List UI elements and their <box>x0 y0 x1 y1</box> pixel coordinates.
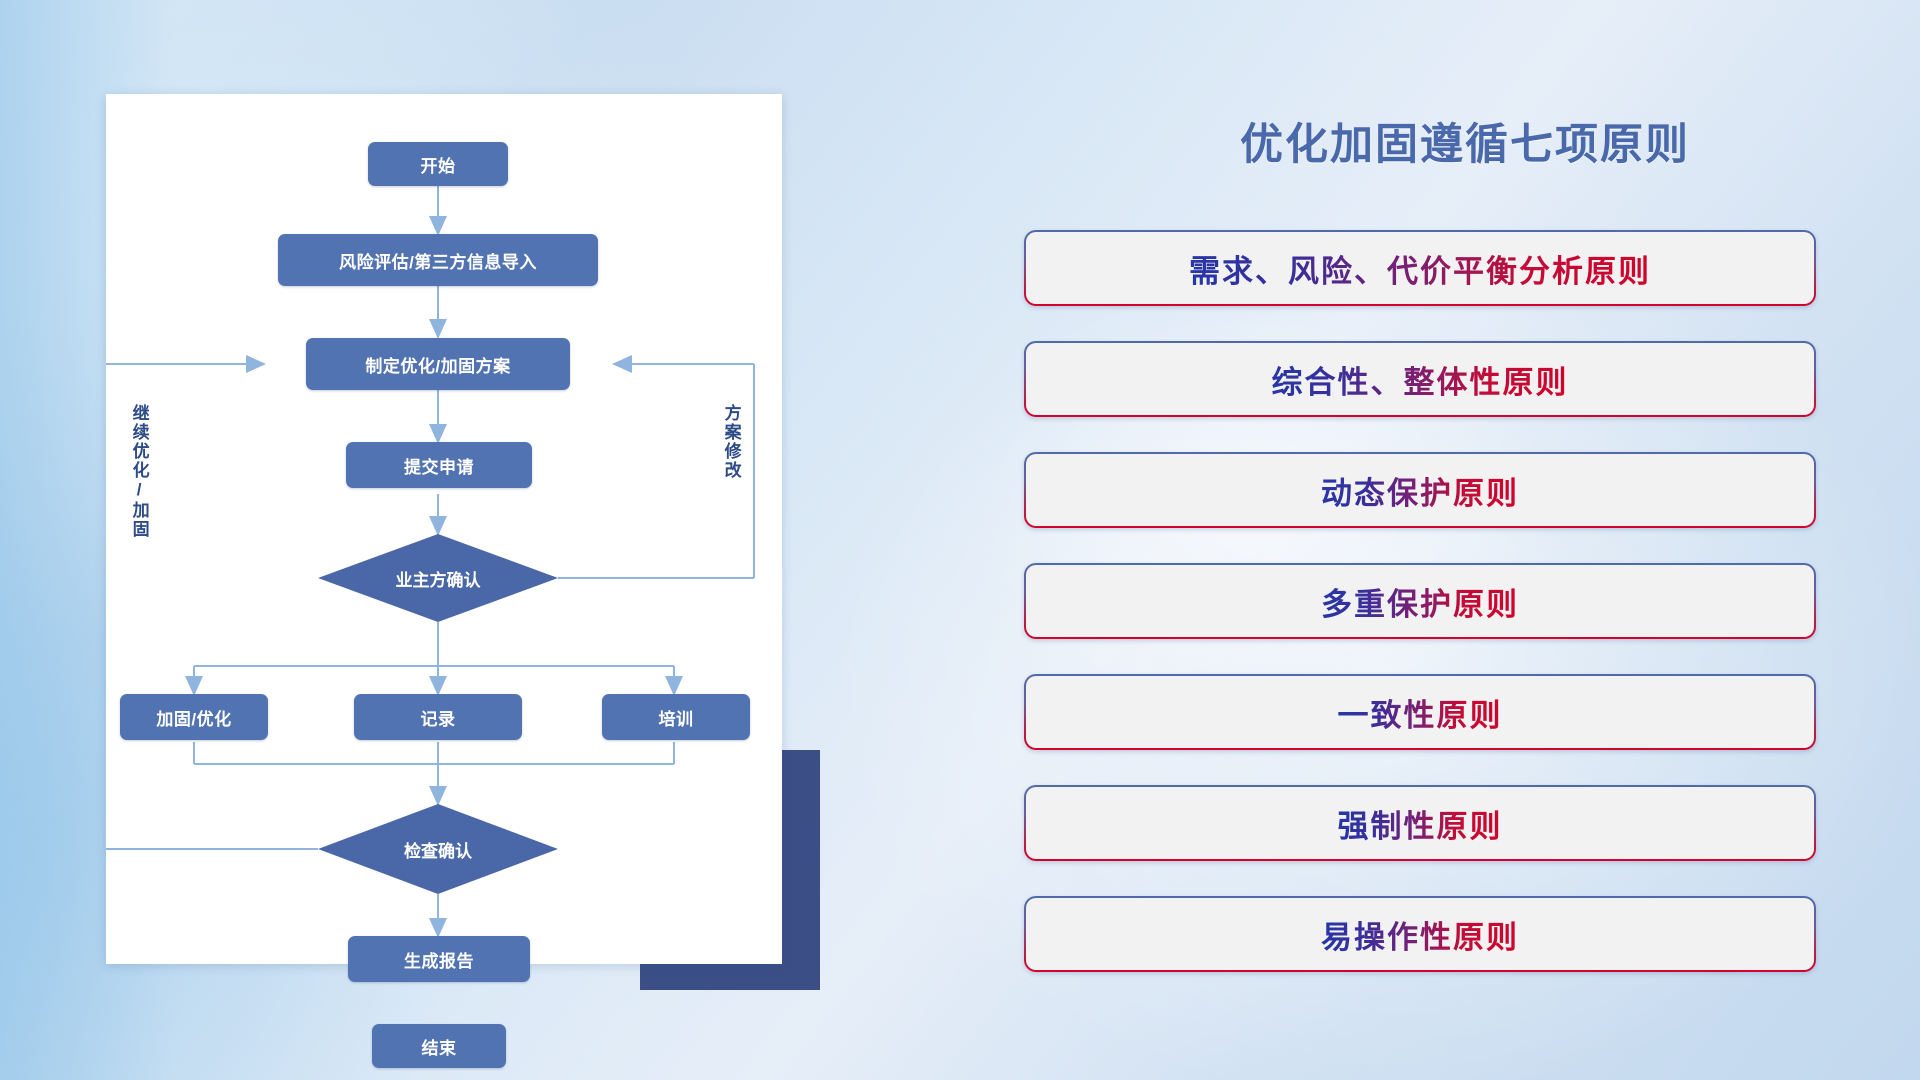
flow-node-label: 制定优化/加固方案 <box>365 352 510 377</box>
principle-card[interactable]: 多重保护原则 <box>1024 563 1816 639</box>
principle-card-inner: 动态保护原则 <box>1026 454 1814 526</box>
flow-node-record[interactable]: 记录 <box>354 694 522 740</box>
flow-label-continue-optimize: 继续优化/加固 <box>130 404 148 584</box>
principle-card-inner: 多重保护原则 <box>1026 565 1814 637</box>
flowchart-card: 开始 风险评估/第三方信息导入 制定优化/加固方案 提交申请 业主方确认 加固/… <box>106 94 782 964</box>
flow-node-label: 检查确认 <box>404 837 472 862</box>
principle-card[interactable]: 动态保护原则 <box>1024 452 1816 528</box>
flow-node-label: 生成报告 <box>404 947 474 972</box>
principle-label: 动态保护原则 <box>1321 468 1519 513</box>
principles-panel: 优化加固遵循七项原则 需求、风险、代价平衡分析原则 综合性、整体性原则 动态保护… <box>1010 0 1920 1080</box>
flow-node-risk-assessment[interactable]: 风险评估/第三方信息导入 <box>278 234 598 286</box>
flow-node-start[interactable]: 开始 <box>368 142 508 186</box>
principle-card-inner: 需求、风险、代价平衡分析原则 <box>1026 232 1814 304</box>
flow-node-reinforce-optimize[interactable]: 加固/优化 <box>120 694 268 740</box>
flow-node-label: 开始 <box>421 152 456 177</box>
flow-node-label: 加固/优化 <box>156 705 231 730</box>
principle-card[interactable]: 易操作性原则 <box>1024 896 1816 972</box>
principle-label: 多重保护原则 <box>1321 579 1519 624</box>
principle-label: 易操作性原则 <box>1321 912 1519 957</box>
flow-node-label: 提交申请 <box>404 453 474 478</box>
flow-node-label: 培训 <box>659 705 694 730</box>
flow-node-label: 风险评估/第三方信息导入 <box>339 248 537 273</box>
principles-list: 需求、风险、代价平衡分析原则 综合性、整体性原则 动态保护原则 多重保护原则 一… <box>1024 230 1816 1007</box>
flow-node-end[interactable]: 结束 <box>372 1024 506 1068</box>
principle-card[interactable]: 综合性、整体性原则 <box>1024 341 1816 417</box>
flow-node-generate-report[interactable]: 生成报告 <box>348 936 530 982</box>
page-title: 优化加固遵循七项原则 <box>1010 110 1920 172</box>
principle-label: 强制性原则 <box>1338 801 1503 846</box>
principle-label: 一致性原则 <box>1338 690 1503 735</box>
principle-card-inner: 强制性原则 <box>1026 787 1814 859</box>
flow-node-label: 结束 <box>422 1034 457 1059</box>
principle-card[interactable]: 强制性原则 <box>1024 785 1816 861</box>
flow-label-plan-revision: 方案修改 <box>722 404 740 534</box>
flow-node-training[interactable]: 培训 <box>602 694 750 740</box>
flow-node-plan[interactable]: 制定优化/加固方案 <box>306 338 570 390</box>
flow-node-submit-application[interactable]: 提交申请 <box>346 442 532 488</box>
principle-label: 综合性、整体性原则 <box>1272 357 1569 402</box>
principle-card[interactable]: 一致性原则 <box>1024 674 1816 750</box>
principle-card-inner: 综合性、整体性原则 <box>1026 343 1814 415</box>
principle-card-inner: 一致性原则 <box>1026 676 1814 748</box>
principle-card[interactable]: 需求、风险、代价平衡分析原则 <box>1024 230 1816 306</box>
flow-node-label: 记录 <box>421 705 456 730</box>
flow-node-label: 业主方确认 <box>396 566 481 591</box>
principle-card-inner: 易操作性原则 <box>1026 898 1814 970</box>
principle-label: 需求、风险、代价平衡分析原则 <box>1189 246 1651 291</box>
